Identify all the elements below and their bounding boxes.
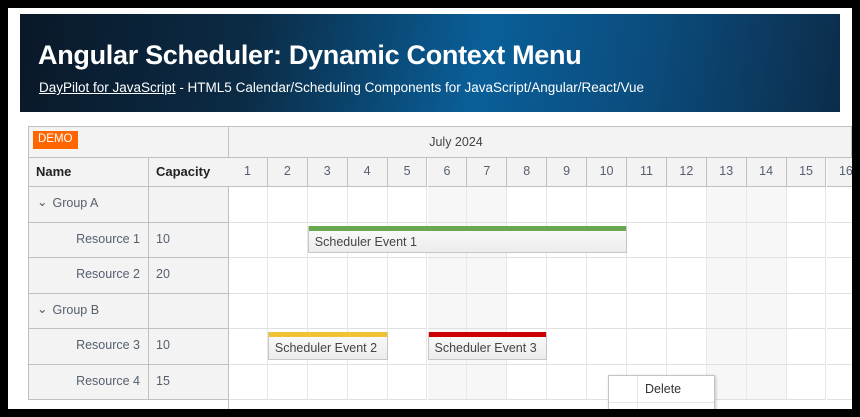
grid-cell[interactable]: [787, 365, 827, 401]
grid-cell[interactable]: [707, 258, 747, 294]
scheduler-corner: DEMO: [28, 126, 228, 158]
scheduler-widget[interactable]: DEMO July 2024 Name Capacity 12345678910…: [28, 126, 852, 409]
grid-cell[interactable]: [747, 223, 787, 259]
grid-cell[interactable]: [268, 223, 308, 259]
grid-cell[interactable]: [627, 329, 667, 365]
grid-cell[interactable]: [388, 365, 428, 401]
grid-cell[interactable]: [348, 258, 388, 294]
grid-cell[interactable]: [667, 294, 707, 330]
grid-cell[interactable]: [627, 223, 667, 259]
menu-item-label: Blue: [645, 403, 670, 409]
resource-row-header[interactable]: Resource 4: [28, 365, 148, 401]
grid-cell[interactable]: [228, 187, 268, 223]
grid-cell[interactable]: [228, 223, 268, 259]
row-label: Resource 4: [76, 374, 140, 388]
grid-cell[interactable]: [587, 294, 627, 330]
day-header-7[interactable]: 7: [467, 158, 507, 187]
column-header-capacity[interactable]: Capacity: [148, 158, 228, 187]
grid-cell[interactable]: [827, 365, 853, 401]
resource-row-header[interactable]: Resource 1: [28, 223, 148, 259]
day-header-8[interactable]: 8: [507, 158, 547, 187]
row-capacity-cell: [148, 187, 228, 223]
day-header-1[interactable]: 1: [228, 158, 268, 187]
grid-cell[interactable]: [747, 329, 787, 365]
menu-icon-slot: [609, 376, 638, 402]
grid-cell[interactable]: [707, 294, 747, 330]
context-menu[interactable]: DeleteBlueGreenYellowRed: [608, 375, 715, 409]
grid-cell[interactable]: [787, 329, 827, 365]
grid-cell[interactable]: [428, 294, 468, 330]
group-row-header[interactable]: ⌄Group B: [28, 294, 148, 330]
day-header-10[interactable]: 10: [587, 158, 627, 187]
row-label: Resource 1: [76, 232, 140, 246]
day-header-16[interactable]: 16: [827, 158, 853, 187]
grid-cell[interactable]: [787, 294, 827, 330]
grid-cell[interactable]: [827, 329, 853, 365]
grid-cell[interactable]: [428, 258, 468, 294]
day-header-11[interactable]: 11: [627, 158, 667, 187]
event-color-bar: [269, 332, 387, 337]
grid-cell[interactable]: [308, 258, 348, 294]
page-frame: Angular Scheduler: Dynamic Context Menu …: [8, 8, 852, 409]
grid-cell[interactable]: [827, 223, 853, 259]
event-color-bar: [309, 226, 626, 231]
event-color-bar: [429, 332, 547, 337]
grid-cell[interactable]: [308, 365, 348, 401]
chevron-down-icon[interactable]: ⌄: [37, 187, 47, 220]
row-capacity-cell: [148, 294, 228, 330]
timeline-month-header: July 2024: [228, 126, 852, 158]
page-subtitle: DayPilot for JavaScript - HTML5 Calendar…: [39, 80, 644, 95]
row-label: Resource 2: [76, 267, 140, 281]
grid-cell[interactable]: [228, 258, 268, 294]
menu-icon-slot: [609, 403, 638, 409]
day-header-15[interactable]: 15: [787, 158, 827, 187]
grid-cell[interactable]: [428, 365, 468, 401]
day-header-13[interactable]: 13: [707, 158, 747, 187]
grid-cell[interactable]: [827, 294, 853, 330]
row-label: Group B: [52, 303, 99, 317]
grid-cell[interactable]: [787, 223, 827, 259]
grid-cell[interactable]: [587, 258, 627, 294]
resource-row-header[interactable]: Resource 3: [28, 329, 148, 365]
day-header-14[interactable]: 14: [747, 158, 787, 187]
day-header-5[interactable]: 5: [388, 158, 428, 187]
grid-cell[interactable]: [388, 187, 428, 223]
event-label: Scheduler Event 1: [315, 235, 417, 249]
grid-cell[interactable]: [467, 258, 507, 294]
grid-cell[interactable]: [667, 223, 707, 259]
grid-cell[interactable]: [747, 294, 787, 330]
grid-cell[interactable]: [388, 329, 428, 365]
menu-item-label: Delete: [645, 376, 681, 403]
column-header-name[interactable]: Name: [28, 158, 148, 187]
grid-cell[interactable]: [507, 187, 547, 223]
grid-cell[interactable]: [787, 258, 827, 294]
page-header-banner: Angular Scheduler: Dynamic Context Menu …: [20, 14, 840, 112]
grid-cell[interactable]: [707, 329, 747, 365]
daypilot-link[interactable]: DayPilot for JavaScript: [39, 80, 176, 95]
grid-cell[interactable]: [308, 294, 348, 330]
row-capacity-cell: 20: [148, 258, 228, 294]
grid-cell[interactable]: [467, 365, 507, 401]
grid-cell[interactable]: [348, 294, 388, 330]
row-label: Resource 3: [76, 338, 140, 352]
grid-cell[interactable]: [547, 258, 587, 294]
context-menu-item-delete[interactable]: Delete: [609, 376, 714, 403]
grid-cell[interactable]: [547, 329, 587, 365]
grid-cell[interactable]: [268, 365, 308, 401]
grid-cell[interactable]: [667, 258, 707, 294]
demo-badge: DEMO: [33, 131, 78, 149]
grid-cell[interactable]: [428, 187, 468, 223]
scheduler-event[interactable]: Scheduler Event 1: [308, 226, 627, 254]
row-capacity-cell: 10: [148, 223, 228, 259]
grid-cell[interactable]: [507, 294, 547, 330]
grid-cell[interactable]: [547, 294, 587, 330]
grid-cell[interactable]: [747, 365, 787, 401]
scheduler-event[interactable]: Scheduler Event 2: [268, 332, 388, 360]
grid-cell[interactable]: [627, 187, 667, 223]
grid-cell[interactable]: [308, 187, 348, 223]
grid-cell[interactable]: [587, 187, 627, 223]
day-header-9[interactable]: 9: [547, 158, 587, 187]
day-header-2[interactable]: 2: [268, 158, 308, 187]
grid-cell[interactable]: [787, 187, 827, 223]
grid-cell[interactable]: [228, 329, 268, 365]
grid-cell[interactable]: [507, 258, 547, 294]
day-header-3[interactable]: 3: [308, 158, 348, 187]
grid-cell[interactable]: [268, 294, 308, 330]
grid-cell[interactable]: [388, 258, 428, 294]
grid-cell[interactable]: [228, 365, 268, 401]
month-label: July 2024: [429, 135, 483, 149]
row-capacity-cell: 10: [148, 329, 228, 365]
grid-cell[interactable]: [627, 258, 667, 294]
grid-cell[interactable]: [228, 294, 268, 330]
event-label: Scheduler Event 3: [435, 341, 537, 355]
grid-cell[interactable]: [747, 258, 787, 294]
day-header-4[interactable]: 4: [348, 158, 388, 187]
grid-cell[interactable]: [827, 187, 853, 223]
context-menu-item-blue[interactable]: Blue: [609, 403, 714, 409]
grid-cell[interactable]: [707, 187, 747, 223]
page-title: Angular Scheduler: Dynamic Context Menu: [38, 40, 581, 71]
grid-cell[interactable]: [348, 365, 388, 401]
day-header-6[interactable]: 6: [428, 158, 468, 187]
grid-cell[interactable]: [507, 365, 547, 401]
grid-cell[interactable]: [467, 294, 507, 330]
grid-cell[interactable]: [827, 258, 853, 294]
grid-cell[interactable]: [627, 294, 667, 330]
day-header-12[interactable]: 12: [667, 158, 707, 187]
grid-cell[interactable]: [667, 187, 707, 223]
grid-cell[interactable]: [587, 329, 627, 365]
grid-cell[interactable]: [747, 187, 787, 223]
grid-cell[interactable]: [388, 294, 428, 330]
chevron-down-icon[interactable]: ⌄: [37, 294, 47, 327]
event-label: Scheduler Event 2: [275, 341, 377, 355]
row-label: Group A: [52, 196, 98, 210]
group-row-header[interactable]: ⌄Group A: [28, 187, 148, 223]
scheduler-event[interactable]: Scheduler Event 3: [428, 332, 548, 360]
row-capacity-cell: 15: [148, 365, 228, 401]
grid-cell[interactable]: [268, 258, 308, 294]
resource-row-header[interactable]: Resource 2: [28, 258, 148, 294]
grid-cell[interactable]: [547, 187, 587, 223]
grid-cell[interactable]: [268, 187, 308, 223]
grid-cell[interactable]: [547, 365, 587, 401]
grid-cell[interactable]: [667, 329, 707, 365]
grid-cell[interactable]: [467, 187, 507, 223]
page-subtitle-rest: - HTML5 Calendar/Scheduling Components f…: [176, 80, 645, 95]
grid-cell[interactable]: [348, 187, 388, 223]
grid-cell[interactable]: [707, 223, 747, 259]
